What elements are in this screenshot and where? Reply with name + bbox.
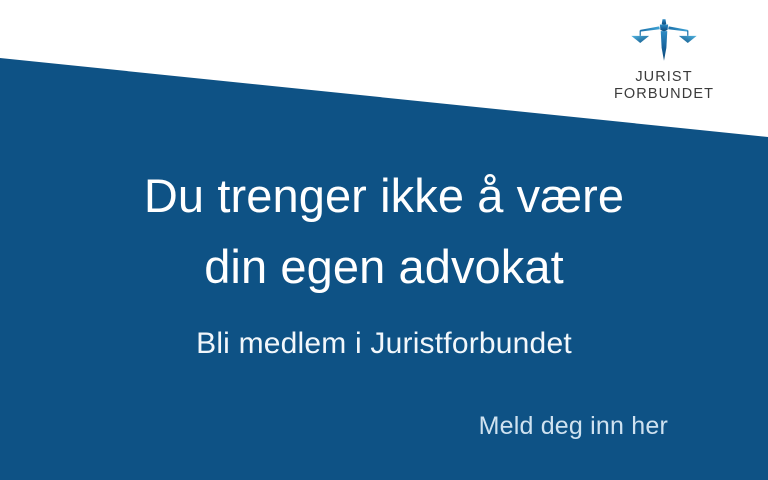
subtitle: Bli medlem i Juristforbundet xyxy=(0,327,768,361)
banner-content: Du trenger ikke å være din egen advokat … xyxy=(0,0,768,480)
headline: Du trenger ikke å være din egen advokat xyxy=(0,160,768,303)
signup-link[interactable]: Meld deg inn her xyxy=(479,412,668,441)
advertisement-banner: JURIST FORBUNDET Du trenger ikke å være … xyxy=(0,0,768,480)
headline-line-1: Du trenger ikke å være xyxy=(0,160,768,231)
headline-line-2: din egen advokat xyxy=(0,231,768,302)
